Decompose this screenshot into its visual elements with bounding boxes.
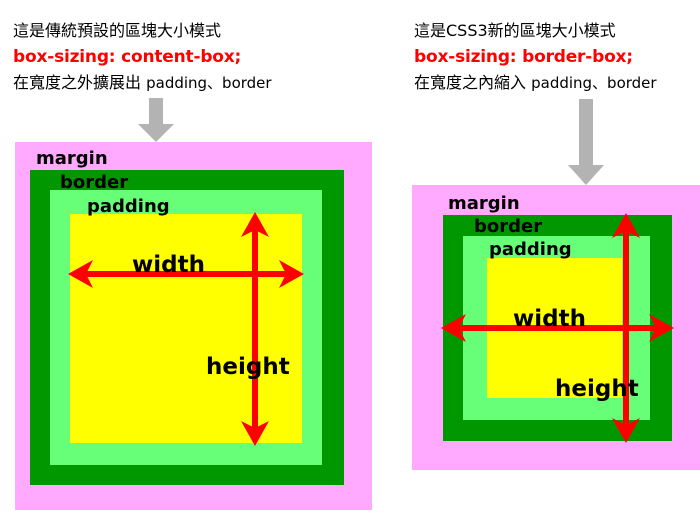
caption-line-1: 這是傳統預設的區塊大小模式 [13,18,272,44]
down-arrow-grey-left [134,98,178,144]
down-arrow-grey-right [566,99,606,187]
border-label: border [60,174,128,192]
padding-label: padding [87,198,170,216]
caption-line-3: 在寬度之內縮入 padding、border [414,70,657,96]
width-label: width [513,308,586,331]
margin-label: margin [36,150,108,168]
box-diagram-content-box: margin border padding width height [15,142,372,510]
caption-line-3-latin: padding、border [146,74,271,92]
padding-label: padding [489,241,572,259]
height-label: height [206,356,290,379]
caption-line-3: 在寬度之外擴展出 padding、border [13,70,272,96]
caption-line-3-cjk: 在寬度之內縮入 [414,73,526,92]
margin-label: margin [448,195,520,213]
caption-code-border-box: box-sizing: border-box; [414,44,657,70]
box-diagram-border-box: margin border padding width height [412,185,700,470]
caption-line-3-latin: padding、border [531,74,656,92]
caption-line-1: 這是CSS3新的區塊大小模式 [414,18,657,44]
caption-border-box: 這是CSS3新的區塊大小模式 box-sizing: border-box; 在… [414,18,657,96]
height-label: height [555,378,639,401]
content-layer [70,214,302,443]
diagram-canvas: 這是傳統預設的區塊大小模式 box-sizing: content-box; 在… [0,0,700,514]
border-label: border [474,218,542,236]
width-label: width [132,254,205,277]
caption-code-content-box: box-sizing: content-box; [13,44,272,70]
caption-content-box: 這是傳統預設的區塊大小模式 box-sizing: content-box; 在… [13,18,272,96]
caption-line-3-cjk: 在寬度之外擴展出 [13,73,141,92]
